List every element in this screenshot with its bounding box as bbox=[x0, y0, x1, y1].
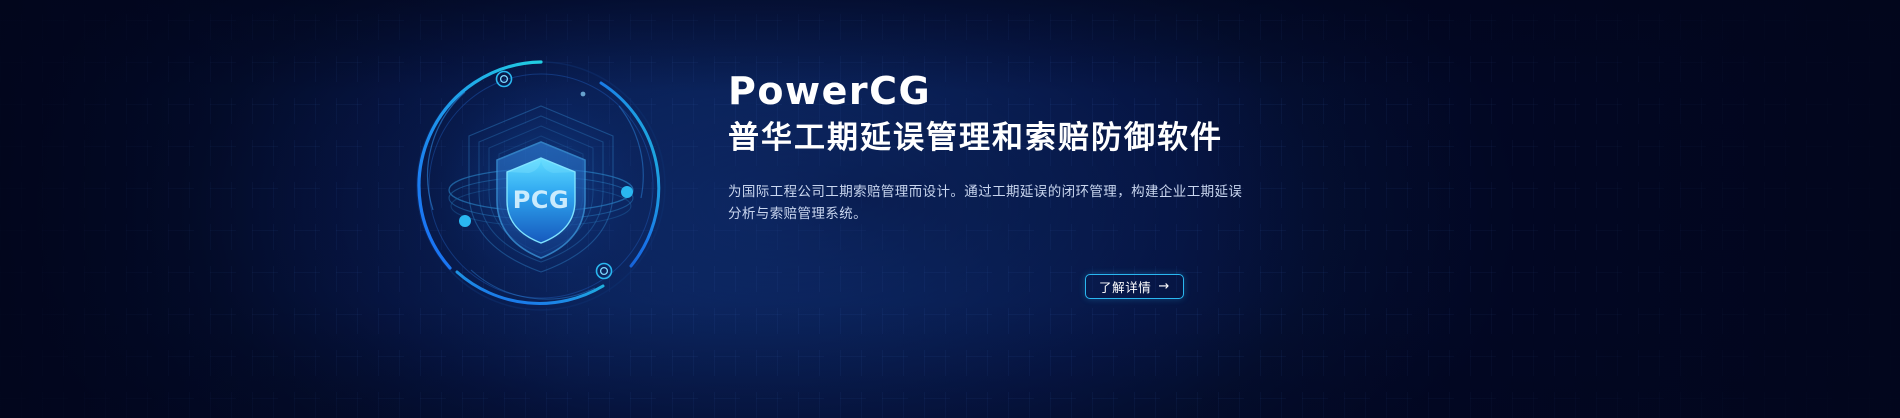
emblem-dot-right bbox=[621, 186, 633, 198]
learn-more-label: 了解详情 bbox=[1099, 277, 1151, 296]
page-title: PowerCG bbox=[728, 72, 1428, 112]
description-line-2: 分析与索赔管理系统。 bbox=[728, 203, 1180, 225]
emblem-dot-left bbox=[459, 215, 471, 227]
hero-banner: PCG PowerCG 普华工期延误管理和索赔防御软件 为国际工程公司工期索赔管… bbox=[0, 0, 1900, 418]
arrow-right-icon: → bbox=[1158, 280, 1170, 293]
learn-more-button[interactable]: 了解详情 → bbox=[1085, 274, 1184, 299]
powercg-shield-emblem: PCG bbox=[405, 50, 677, 322]
hero-copy: PowerCG 普华工期延误管理和索赔防御软件 为国际工程公司工期索赔管理而设计… bbox=[728, 72, 1428, 226]
hero-description: 为国际工程公司工期索赔管理而设计。通过工期延误的闭环管理，构建企业工期延误 分析… bbox=[728, 181, 1180, 226]
emblem-dot-small bbox=[581, 92, 586, 97]
description-line-1: 为国际工程公司工期索赔管理而设计。通过工期延误的闭环管理，构建企业工期延误 bbox=[728, 181, 1180, 203]
emblem-shield-label: PCG bbox=[513, 186, 569, 214]
page-subtitle: 普华工期延误管理和索赔防御软件 bbox=[728, 120, 1428, 157]
